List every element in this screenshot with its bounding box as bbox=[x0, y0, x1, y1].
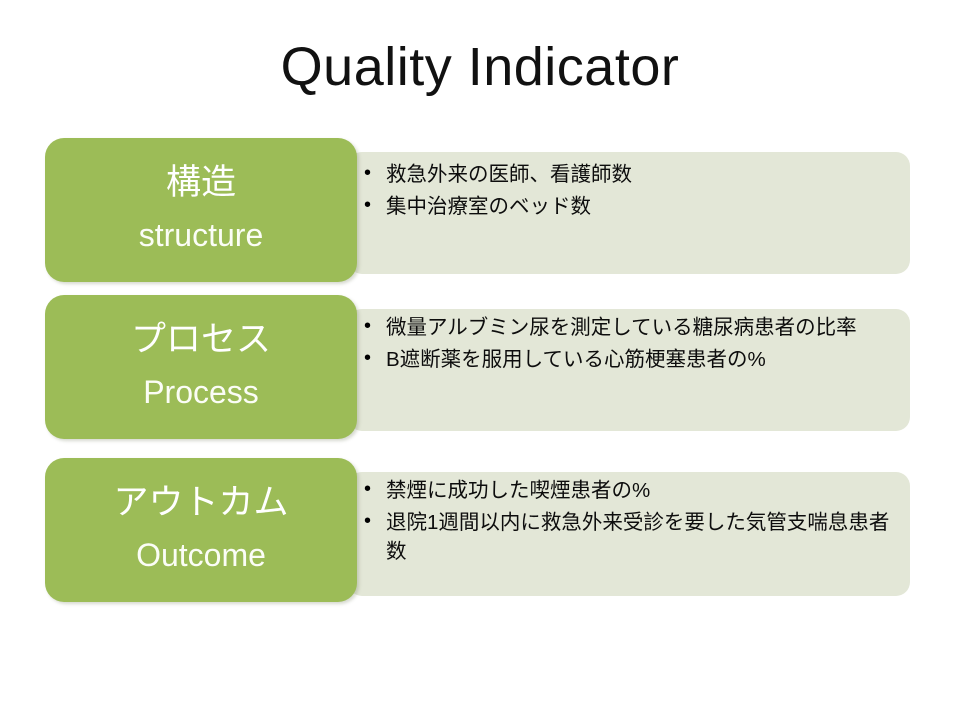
category-label-jp: アウトカム bbox=[113, 481, 288, 525]
category-label-jp: 構造 bbox=[166, 161, 236, 205]
category-chip-outcome[interactable]: アウトカム Outcome bbox=[45, 458, 357, 602]
bullet-list: 微量アルブミン尿を測定している糖尿病患者の比率 B遮断薬を服用している心筋梗塞患… bbox=[362, 313, 902, 377]
list-item: 禁煙に成功した喫煙患者の% bbox=[362, 476, 902, 505]
quality-indicator-row-structure: 救急外来の医師、看護師数 集中治療室のベッド数 構造 structure bbox=[0, 138, 960, 282]
list-item: B遮断薬を服用している心筋梗塞患者の% bbox=[362, 345, 902, 374]
category-label-en: structure bbox=[139, 215, 263, 255]
list-item: 微量アルブミン尿を測定している糖尿病患者の比率 bbox=[362, 313, 902, 342]
category-chip-structure[interactable]: 構造 structure bbox=[45, 138, 357, 282]
category-label-en: Outcome bbox=[136, 535, 266, 575]
page-title: Quality Indicator bbox=[0, 36, 960, 98]
quality-indicator-row-process: 微量アルブミン尿を測定している糖尿病患者の比率 B遮断薬を服用している心筋梗塞患… bbox=[0, 295, 960, 439]
bullet-list: 救急外来の医師、看護師数 集中治療室のベッド数 bbox=[362, 160, 902, 224]
category-chip-process[interactable]: プロセス Process bbox=[45, 295, 357, 439]
slide-canvas: Quality Indicator 救急外来の医師、看護師数 集中治療室のベッド… bbox=[0, 0, 960, 720]
quality-indicator-row-outcome: 禁煙に成功した喫煙患者の% 退院1週間以内に救急外来受診を要した気管支喘息患者数… bbox=[0, 458, 960, 602]
list-item: 集中治療室のベッド数 bbox=[362, 192, 902, 221]
category-label-en: Process bbox=[143, 372, 259, 412]
list-item: 退院1週間以内に救急外来受診を要した気管支喘息患者数 bbox=[362, 508, 902, 566]
category-label-jp: プロセス bbox=[131, 318, 271, 362]
bullet-list: 禁煙に成功した喫煙患者の% 退院1週間以内に救急外来受診を要した気管支喘息患者数 bbox=[362, 476, 902, 569]
list-item: 救急外来の医師、看護師数 bbox=[362, 160, 902, 189]
